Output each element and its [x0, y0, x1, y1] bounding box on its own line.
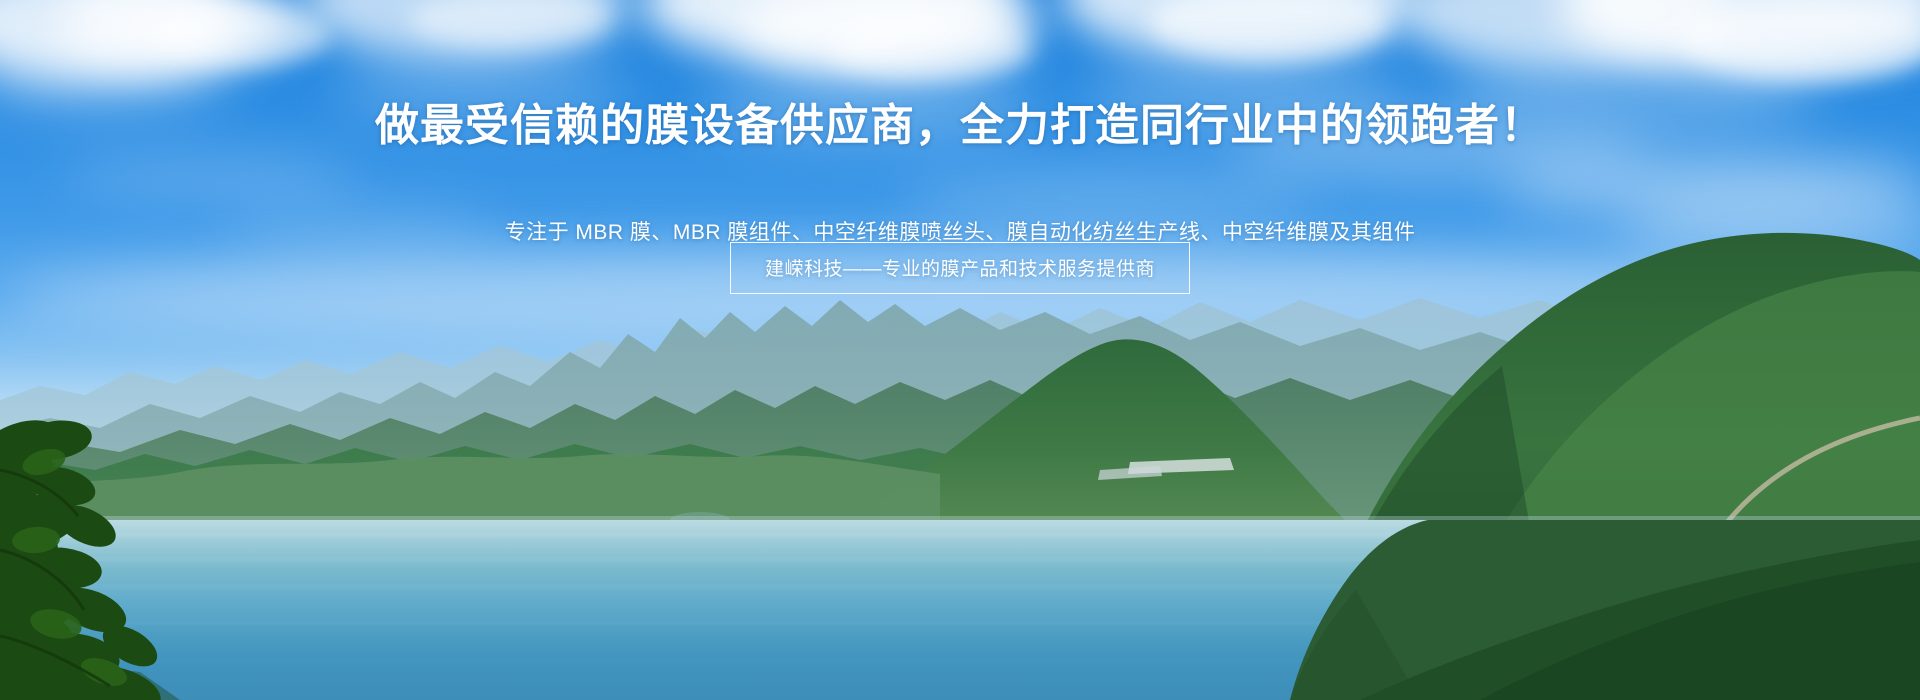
tagline-box: 建嵘科技——专业的膜产品和技术服务提供商 [730, 242, 1190, 294]
banner-headline: 做最受信赖的膜设备供应商，全力打造同行业中的领跑者！ [0, 101, 1920, 151]
banner-copy: 做最受信赖的膜设备供应商，全力打造同行业中的领跑者！ 专注于 MBR 膜、MBR… [0, 0, 1920, 700]
hero-banner: 做最受信赖的膜设备供应商，全力打造同行业中的领跑者！ 专注于 MBR 膜、MBR… [0, 0, 1920, 700]
tagline-wrapper: 建嵘科技——专业的膜产品和技术服务提供商 [0, 242, 1920, 294]
